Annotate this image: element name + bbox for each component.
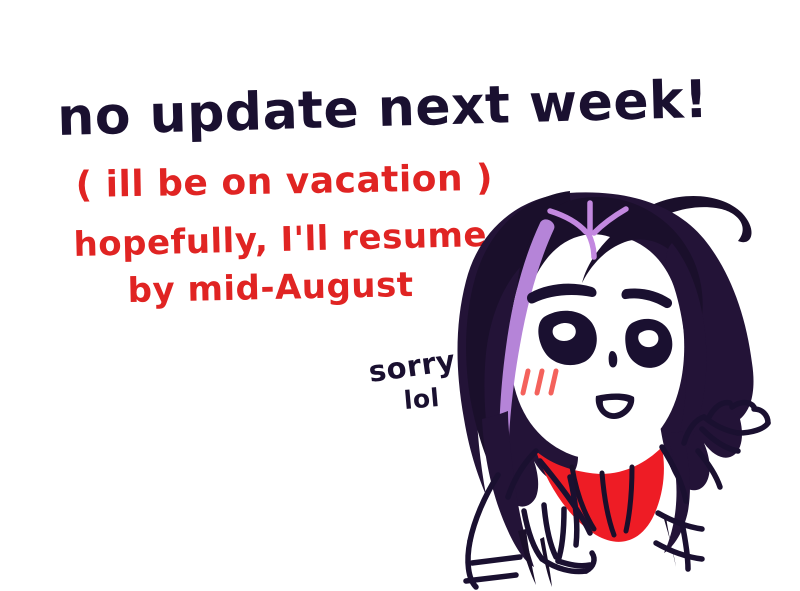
eye-left-highlight <box>553 323 576 341</box>
note-line-2-text: by mid-August <box>127 268 414 308</box>
illustration-canvas: no update next week! ( ill be on vacatio… <box>0 0 800 591</box>
waving-girl-illustration <box>420 175 800 591</box>
headline-text: no update next week! <box>57 74 709 144</box>
